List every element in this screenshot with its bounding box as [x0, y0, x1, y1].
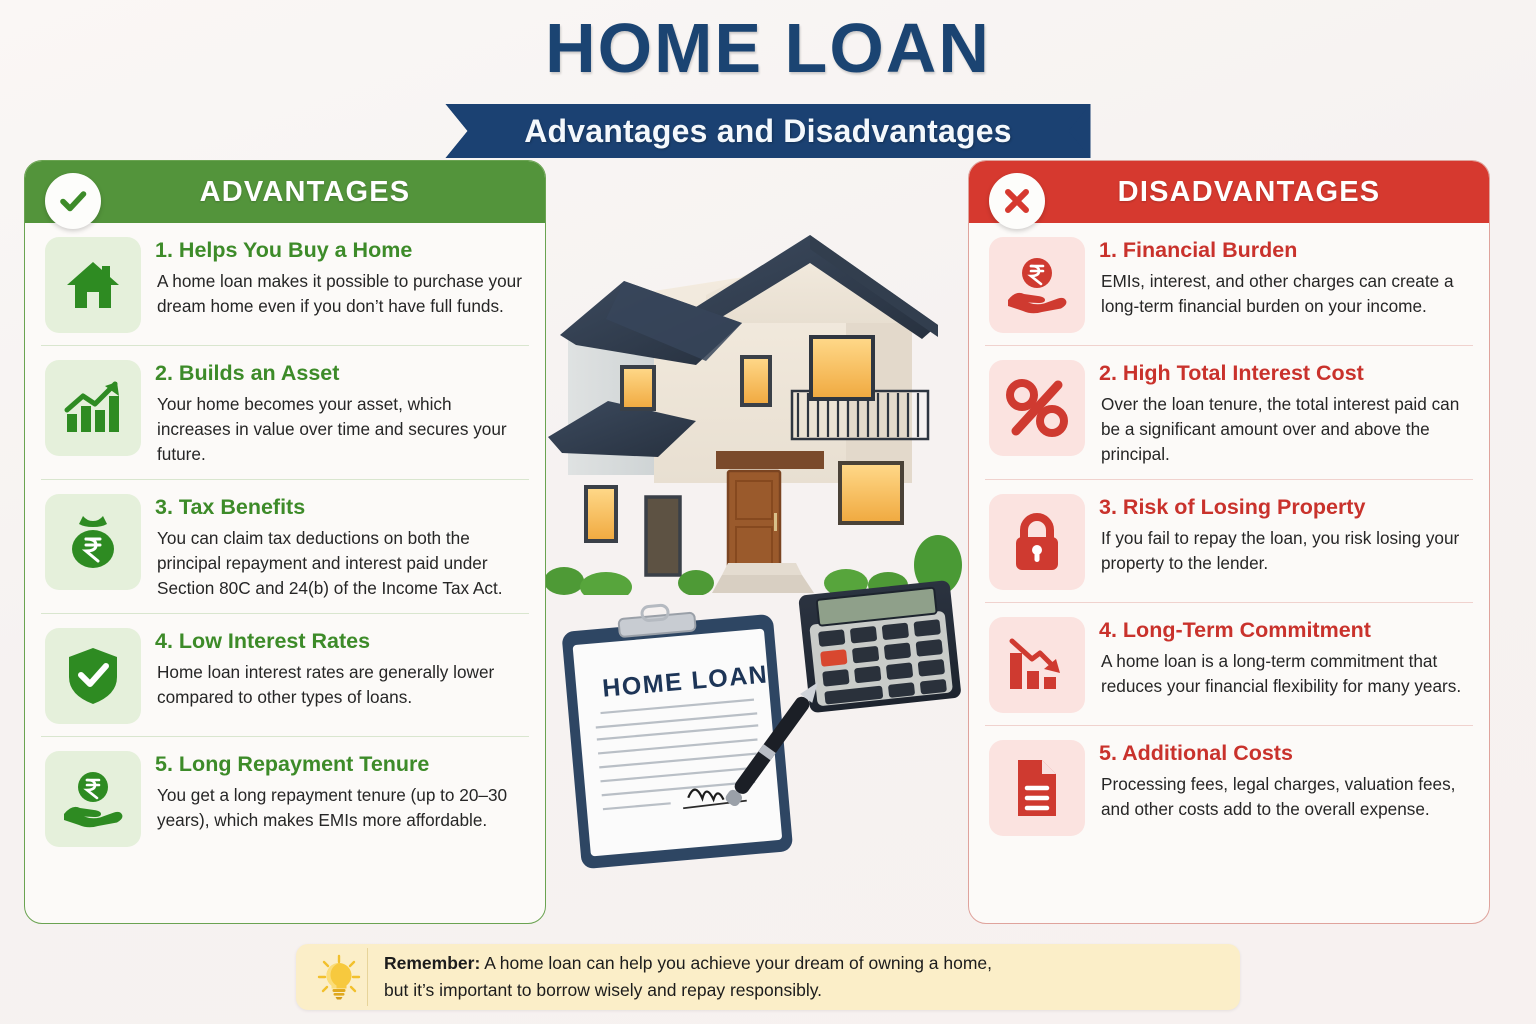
- list-item-number: 3.: [1099, 495, 1117, 519]
- list-item-description: Home loan interest rates are generally l…: [155, 660, 525, 710]
- list-item-number: 1.: [1099, 238, 1117, 262]
- remember-label: Remember:: [384, 953, 480, 973]
- list-item[interactable]: 3. Risk of Losing PropertyIf you fail to…: [985, 479, 1473, 602]
- list-item-description: Over the loan tenure, the total interest…: [1099, 392, 1469, 467]
- list-item-number: 2.: [1099, 361, 1117, 385]
- advantages-list: 1. Helps You Buy a HomeA home loan makes…: [25, 223, 545, 859]
- list-item-title-text: Financial Burden: [1123, 238, 1297, 262]
- list-item[interactable]: 4. Long-Term CommitmentA home loan is a …: [985, 602, 1473, 725]
- document-icon: [989, 740, 1085, 836]
- list-item-description: EMIs, interest, and other charges can cr…: [1099, 269, 1469, 319]
- list-item-body: 1. Financial BurdenEMIs, interest, and o…: [1099, 237, 1469, 319]
- list-item-title-text: Helps You Buy a Home: [179, 238, 412, 262]
- advantages-header: ADVANTAGES: [25, 161, 545, 223]
- list-item-title-text: Tax Benefits: [179, 495, 305, 519]
- list-item-title: 5. Additional Costs: [1099, 742, 1469, 766]
- list-item-title-text: Long Repayment Tenure: [179, 752, 429, 776]
- center-illustration: HOME LOAN: [546, 160, 970, 924]
- list-item-body: 3. Tax BenefitsYou can claim tax deducti…: [155, 494, 525, 601]
- hand-rupee-coin-icon: [989, 237, 1085, 333]
- remember-line1: A home loan can help you achieve your dr…: [484, 953, 992, 973]
- disadvantages-panel: DISADVANTAGES 1. Financial BurdenEMIs, i…: [968, 160, 1490, 924]
- list-item-title: 3. Tax Benefits: [155, 496, 525, 520]
- list-item-title: 3. Risk of Losing Property: [1099, 496, 1469, 520]
- lock-icon: [989, 494, 1085, 590]
- list-item-description: Processing fees, legal charges, valuatio…: [1099, 772, 1469, 822]
- list-item-title: 1. Financial Burden: [1099, 239, 1469, 263]
- money-bag-rupee-icon: [45, 494, 141, 590]
- list-item-title-text: Long-Term Commitment: [1123, 618, 1371, 642]
- lightbulb-icon: [310, 948, 368, 1006]
- list-item-title-text: Low Interest Rates: [179, 629, 370, 653]
- disadvantages-header: DISADVANTAGES: [969, 161, 1489, 223]
- x-circle-icon: [989, 173, 1045, 229]
- page-subtitle: Advantages and Disadvantages: [524, 113, 1012, 150]
- list-item-description: A home loan is a long-term commitment th…: [1099, 649, 1469, 699]
- declining-chart-icon: [989, 617, 1085, 713]
- house-illustration: [546, 215, 970, 595]
- house-icon: [45, 237, 141, 333]
- list-item-number: 5.: [1099, 741, 1117, 765]
- list-item-body: 5. Additional CostsProcessing fees, lega…: [1099, 740, 1469, 822]
- list-item-title: 5. Long Repayment Tenure: [155, 753, 525, 777]
- list-item-title-text: Risk of Losing Property: [1123, 495, 1366, 519]
- list-item-body: 2. High Total Interest CostOver the loan…: [1099, 360, 1469, 467]
- list-item-number: 2.: [155, 361, 173, 385]
- header: HOME LOAN Advantages and Disadvantages: [0, 0, 1536, 160]
- list-item[interactable]: 5. Additional CostsProcessing fees, lega…: [985, 725, 1473, 848]
- list-item-description: You can claim tax deductions on both the…: [155, 526, 525, 601]
- disadvantages-list: 1. Financial BurdenEMIs, interest, and o…: [969, 223, 1489, 848]
- remember-banner: Remember: A home loan can help you achie…: [296, 944, 1240, 1010]
- advantages-panel: ADVANTAGES 1. Helps You Buy a HomeA home…: [24, 160, 546, 924]
- list-item-title-text: Builds an Asset: [179, 361, 340, 385]
- list-item-body: 2. Builds an AssetYour home becomes your…: [155, 360, 525, 467]
- list-item-description: A home loan makes it possible to purchas…: [155, 269, 525, 319]
- page-title: HOME LOAN: [0, 8, 1536, 88]
- list-item[interactable]: 2. Builds an AssetYour home becomes your…: [41, 345, 529, 479]
- list-item[interactable]: 1. Helps You Buy a HomeA home loan makes…: [41, 223, 529, 345]
- list-item-title: 4. Long-Term Commitment: [1099, 619, 1469, 643]
- advantages-heading: ADVANTAGES: [25, 176, 545, 209]
- list-item-number: 5.: [155, 752, 173, 776]
- percent-icon: [989, 360, 1085, 456]
- list-item-body: 4. Low Interest RatesHome loan interest …: [155, 628, 525, 710]
- list-item-description: If you fail to repay the loan, you risk …: [1099, 526, 1469, 576]
- list-item-title-text: Additional Costs: [1122, 741, 1293, 765]
- list-item[interactable]: 5. Long Repayment TenureYou get a long r…: [41, 736, 529, 859]
- infographic-page: HOME LOAN Advantages and Disadvantages A…: [0, 0, 1536, 1024]
- list-item-title: 2. High Total Interest Cost: [1099, 362, 1469, 386]
- desk-scene: HOME LOAN: [546, 578, 970, 878]
- list-item-title: 1. Helps You Buy a Home: [155, 239, 525, 263]
- subtitle-ribbon: Advantages and Disadvantages: [446, 104, 1091, 158]
- list-item-title: 4. Low Interest Rates: [155, 630, 525, 654]
- list-item[interactable]: 4. Low Interest RatesHome loan interest …: [41, 613, 529, 736]
- list-item[interactable]: 2. High Total Interest CostOver the loan…: [985, 345, 1473, 479]
- list-item[interactable]: 3. Tax BenefitsYou can claim tax deducti…: [41, 479, 529, 613]
- list-item-body: 3. Risk of Losing PropertyIf you fail to…: [1099, 494, 1469, 576]
- remember-text: Remember: A home loan can help you achie…: [384, 950, 992, 1003]
- list-item[interactable]: 1. Financial BurdenEMIs, interest, and o…: [985, 223, 1473, 345]
- list-item-number: 1.: [155, 238, 173, 262]
- hand-rupee-coin-icon: [45, 751, 141, 847]
- shield-check-icon: [45, 628, 141, 724]
- growth-chart-icon: [45, 360, 141, 456]
- list-item-description: You get a long repayment tenure (up to 2…: [155, 783, 525, 833]
- list-item-body: 4. Long-Term CommitmentA home loan is a …: [1099, 617, 1469, 699]
- list-item-number: 3.: [155, 495, 173, 519]
- list-item-body: 1. Helps You Buy a HomeA home loan makes…: [155, 237, 525, 319]
- list-item-number: 4.: [155, 629, 173, 653]
- list-item-number: 4.: [1099, 618, 1117, 642]
- list-item-title-text: High Total Interest Cost: [1123, 361, 1364, 385]
- remember-line2: but it’s important to borrow wisely and …: [384, 980, 822, 1000]
- list-item-title: 2. Builds an Asset: [155, 362, 525, 386]
- list-item-description: Your home becomes your asset, which incr…: [155, 392, 525, 467]
- disadvantages-heading: DISADVANTAGES: [969, 176, 1489, 209]
- check-circle-icon: [45, 173, 101, 229]
- list-item-body: 5. Long Repayment TenureYou get a long r…: [155, 751, 525, 833]
